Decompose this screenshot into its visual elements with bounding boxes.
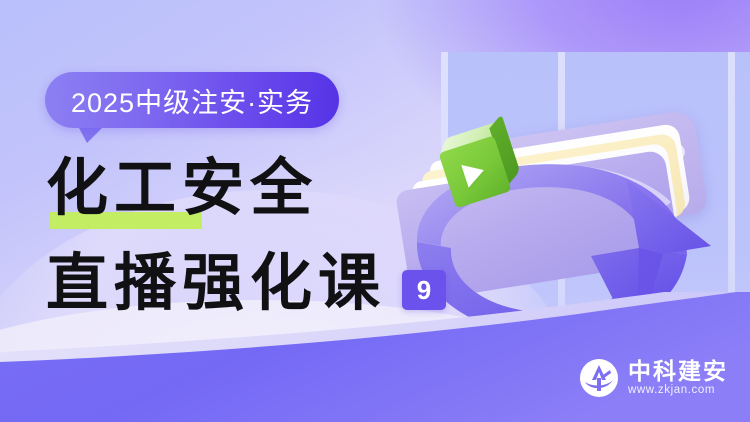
course-category-badge: 2025中级注安·实务 — [45, 72, 339, 128]
page-title-line-1: 化工安全 — [46, 158, 318, 220]
course-promo-banner: 2025中级注安·实务 化工安全 直播强化课 9 中科建安 www.zkjan.… — [0, 0, 750, 422]
badge-label: 2025中级注安·实务 — [71, 81, 313, 120]
episode-number-badge: 9 — [402, 270, 446, 310]
page-title-line-2: 直播强化课 — [46, 253, 386, 315]
zkjan-circle-logo-icon — [579, 358, 619, 398]
logo-website-url: www.zkjan.com — [628, 385, 728, 397]
episode-number-value: 9 — [417, 277, 431, 303]
logo-text-block: 中科建安 www.zkjan.com — [628, 360, 728, 397]
badge-pointer-tail — [78, 126, 104, 143]
logo-company-name: 中科建安 — [628, 360, 728, 383]
brand-logo[interactable]: 中科建安 www.zkjan.com — [579, 358, 728, 398]
